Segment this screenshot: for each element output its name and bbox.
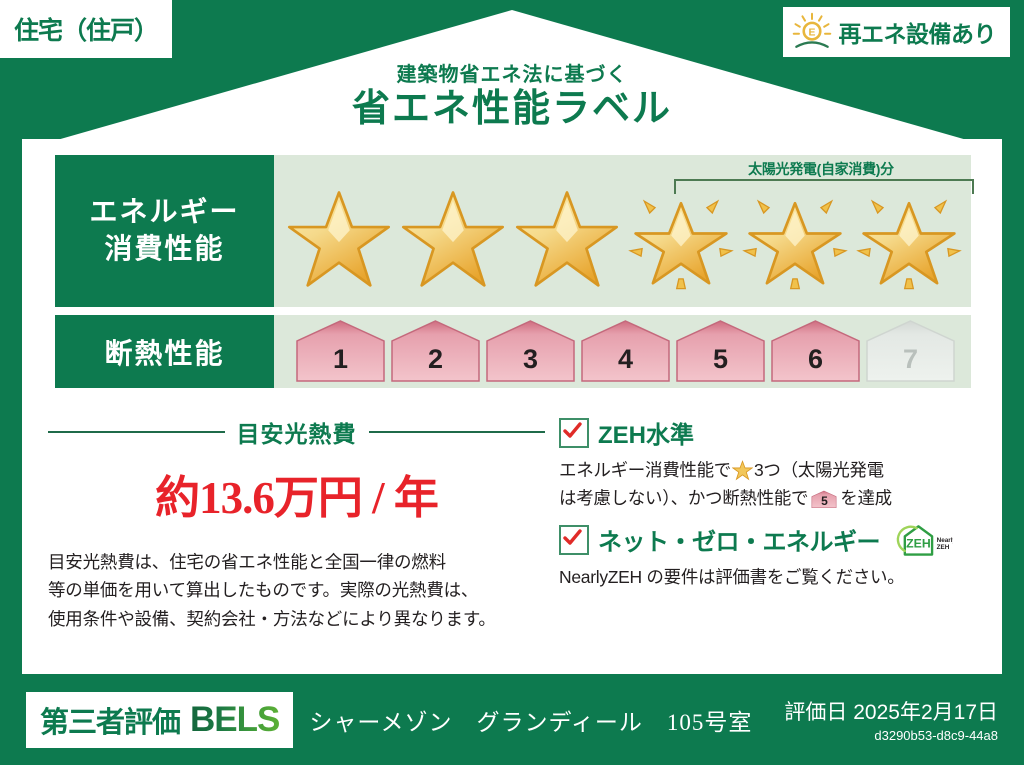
net-zero-heading: ネット・ゼロ・エネルギー ZEH Nearly ZEH — [559, 522, 978, 557]
evaluation-info: 評価日 2025年2月17日 d3290b53-d8c9-44a8 — [784, 696, 998, 743]
title-subtitle: 建築物省エネ法に基づく — [0, 58, 1024, 87]
utility-cost-note: 目安光熱費は、住宅の省エネ性能と全国一律の燃料 等の単価を用いて算出したものです… — [48, 548, 545, 633]
zeh-logo-icon: ZEH Nearly ZEH — [893, 523, 953, 557]
heading-rule-right — [369, 431, 546, 433]
star-icon-solar — [738, 181, 852, 299]
insulation-level-number: 2 — [389, 344, 482, 375]
zeh-standard-block: ZEH水準 エネルギー消費性能で 3つ（太陽光発電 は考慮しない）、かつ断熱性能… — [559, 415, 978, 512]
energy-performance-row: エネルギー 消費性能 太陽光発電(自家消費)分 — [55, 155, 971, 307]
evaluation-id: d3290b53-d8c9-44a8 — [784, 728, 998, 743]
net-zero-block: ネット・ゼロ・エネルギー ZEH Nearly ZEH NearlyZEH の要… — [559, 522, 978, 591]
energy-performance-label: 住宅（住戸） E 再エネ設備あり 建築物省エネ法に基づく 省エネ性能ラベル — [0, 0, 1024, 765]
insulation-level-badge-inactive: 7 — [864, 319, 957, 384]
bels-badge: 第三者評価 BELS — [26, 692, 293, 748]
insulation-level-scale: 1 2 3 4 — [294, 319, 957, 384]
zeh-desc-text: 3つ（太陽光発電 — [754, 456, 884, 484]
insulation-label-text: 断熱性能 — [104, 332, 224, 372]
insulation-level-badge: 2 — [389, 319, 482, 384]
zeh-standard-description: エネルギー消費性能で 3つ（太陽光発電 は考慮しない）、かつ断熱性能で 5 を達… — [559, 456, 978, 512]
insulation-level-badge: 4 — [579, 319, 672, 384]
insulation-level-number: 1 — [294, 344, 387, 375]
svg-text:ZEH: ZEH — [937, 544, 950, 551]
cost-note-line: 使用条件や設備、契約会社・方法などにより異なります。 — [48, 605, 545, 633]
insulation-row-label: 断熱性能 — [55, 315, 274, 388]
zeh-standard-title: ZEH水準 — [598, 415, 694, 450]
check-icon — [562, 528, 582, 548]
performance-rows: エネルギー 消費性能 太陽光発電(自家消費)分 — [55, 155, 971, 396]
star-rating — [274, 181, 971, 299]
energy-row-label: エネルギー 消費性能 — [55, 155, 274, 307]
label-title: 建築物省エネ法に基づく 省エネ性能ラベル — [0, 58, 1024, 131]
zeh-desc-line-1: エネルギー消費性能で 3つ（太陽光発電 — [559, 456, 978, 484]
utility-cost-heading-text: 目安光熱費 — [237, 415, 357, 449]
checkbox-checked — [559, 525, 589, 555]
property-name: シャーメゾン グランディール 105号室 — [309, 703, 752, 737]
insulation-level-number: 6 — [769, 344, 862, 375]
bels-logo-text: BELS — [190, 700, 279, 740]
energy-label-line1: エネルギー — [89, 194, 239, 231]
star-icon — [396, 181, 510, 299]
heading-rule-left — [48, 431, 225, 433]
insulation-badge-inline-number: 5 — [811, 492, 837, 511]
solar-generation-note: 太陽光発電(自家消費)分 — [671, 159, 971, 179]
evaluation-date: 評価日 2025年2月17日 — [784, 696, 998, 726]
check-icon — [562, 421, 582, 441]
insulation-level-number: 3 — [484, 344, 577, 375]
zeh-desc-line-2: は考慮しない）、かつ断熱性能で 5 を達成 — [559, 484, 978, 512]
title-main: 省エネ性能ラベル — [0, 89, 1024, 131]
energy-row-body: 太陽光発電(自家消費)分 — [274, 155, 971, 307]
checkbox-checked — [559, 418, 589, 448]
bels-japanese-label: 第三者評価 — [40, 699, 180, 741]
insulation-level-badge: 6 — [769, 319, 862, 384]
insulation-level-badge: 5 — [674, 319, 767, 384]
star-icon — [510, 181, 624, 299]
zeh-desc-text: エネルギー消費性能で — [559, 456, 731, 484]
net-zero-desc-line: NearlyZEH の要件は評価書をご覧ください。 — [559, 563, 978, 591]
zeh-standard-heading: ZEH水準 — [559, 415, 978, 450]
insulation-performance-row: 断熱性能 1 2 3 — [55, 315, 971, 388]
lower-section: 目安光熱費 約13.6万円 / 年 目安光熱費は、住宅の省エネ性能と全国一律の燃… — [48, 415, 978, 633]
net-zero-title: ネット・ゼロ・エネルギー — [598, 522, 880, 557]
insulation-level-number: 7 — [864, 344, 957, 375]
utility-cost-section: 目安光熱費 約13.6万円 / 年 目安光熱費は、住宅の省エネ性能と全国一律の燃… — [48, 415, 545, 633]
insulation-level-number: 5 — [674, 344, 767, 375]
star-icon-solar — [624, 181, 738, 299]
utility-cost-heading: 目安光熱費 — [48, 415, 545, 449]
star-icon-solar — [852, 181, 966, 299]
cost-note-line: 等の単価を用いて算出したものです。実際の光熱費は、 — [48, 576, 545, 604]
zeh-desc-text: は考慮しない）、かつ断熱性能で — [559, 484, 808, 512]
svg-text:Nearly: Nearly — [937, 536, 953, 543]
label-footer: 第三者評価 BELS シャーメゾン グランディール 105号室 評価日 2025… — [0, 674, 1024, 765]
insulation-badge-inline: 5 — [811, 489, 837, 508]
net-zero-description: NearlyZEH の要件は評価書をご覧ください。 — [559, 563, 978, 591]
insulation-level-badge: 3 — [484, 319, 577, 384]
insulation-level-number: 4 — [579, 344, 672, 375]
insulation-level-badge: 1 — [294, 319, 387, 384]
star-icon — [282, 181, 396, 299]
star-icon-inline — [732, 460, 753, 481]
zeh-section: ZEH水準 エネルギー消費性能で 3つ（太陽光発電 は考慮しない）、かつ断熱性能… — [545, 415, 978, 633]
utility-cost-value: 約13.6万円 / 年 — [48, 461, 545, 526]
energy-label-line2: 消費性能 — [104, 231, 224, 268]
insulation-row-body: 1 2 3 4 — [274, 315, 971, 388]
zeh-desc-text: を達成 — [840, 484, 892, 512]
svg-text:ZEH: ZEH — [906, 536, 931, 550]
cost-note-line: 目安光熱費は、住宅の省エネ性能と全国一律の燃料 — [48, 548, 545, 576]
